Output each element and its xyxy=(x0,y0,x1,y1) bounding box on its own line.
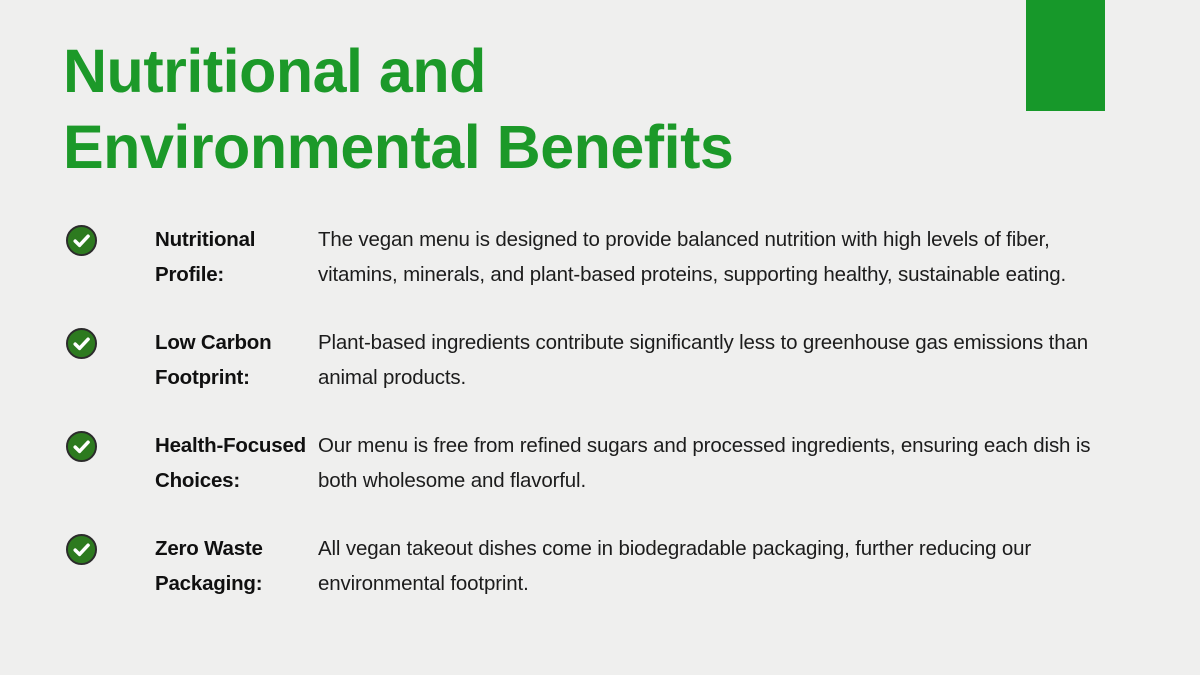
page-title: Nutritional and Environmental Benefits xyxy=(63,33,923,185)
list-item: Zero Waste Packaging: All vegan takeout … xyxy=(0,531,1200,601)
benefit-description: All vegan takeout dishes come in biodegr… xyxy=(318,531,1108,601)
benefit-description: Our menu is free from refined sugars and… xyxy=(318,428,1108,498)
benefit-label: Zero Waste Packaging: xyxy=(97,531,318,601)
benefits-list: Nutritional Profile: The vegan menu is d… xyxy=(0,222,1200,601)
check-circle-icon xyxy=(66,431,97,462)
decorative-green-rectangle xyxy=(1026,0,1105,111)
slide-canvas: Nutritional and Environmental Benefits N… xyxy=(0,0,1200,675)
check-circle-icon xyxy=(66,328,97,359)
list-item: Low Carbon Footprint: Plant-based ingred… xyxy=(0,325,1200,395)
list-item: Nutritional Profile: The vegan menu is d… xyxy=(0,222,1200,292)
check-circle-icon xyxy=(66,225,97,256)
benefit-description: The vegan menu is designed to provide ba… xyxy=(318,222,1108,292)
benefit-label: Low Carbon Footprint: xyxy=(97,325,318,395)
list-item: Health-Focused Choices: Our menu is free… xyxy=(0,428,1200,498)
check-circle-icon xyxy=(66,534,97,565)
benefit-label: Health-Focused Choices: xyxy=(97,428,318,498)
benefit-description: Plant-based ingredients contribute signi… xyxy=(318,325,1108,395)
benefit-label: Nutritional Profile: xyxy=(97,222,318,292)
